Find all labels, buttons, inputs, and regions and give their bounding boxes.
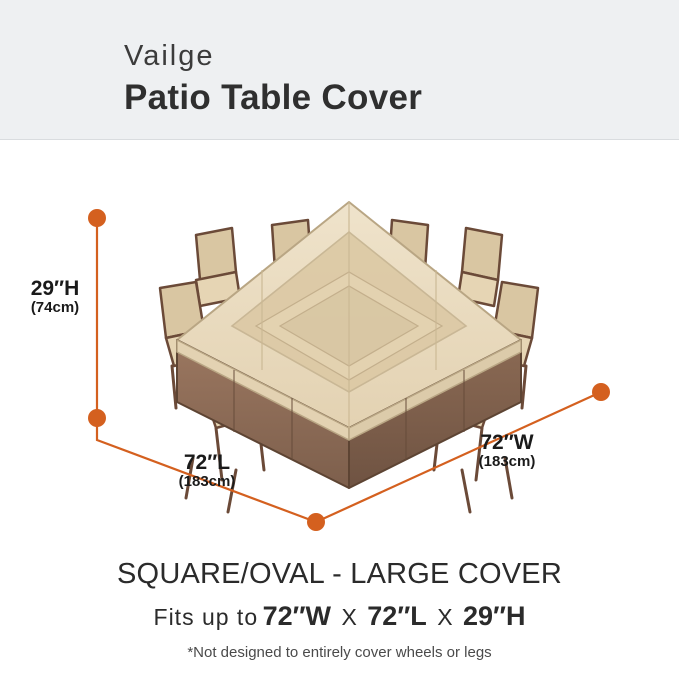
fits-up-to-row: Fits up to 72″W X 72″L X 29″H [0, 601, 679, 632]
fits-separator-1: X [335, 604, 362, 630]
dimension-height-label: 29″H (74cm) [18, 278, 92, 316]
marker-bottom-center [307, 513, 325, 531]
dimension-height-metric: (74cm) [18, 300, 92, 316]
fits-lead-label: Fits up to [154, 604, 259, 630]
dimension-height-value: 29″H [18, 278, 92, 300]
dimension-length-value: 72″L [152, 452, 262, 474]
fits-width-value: 72″W [263, 601, 331, 631]
dimension-length-metric: (183cm) [152, 474, 262, 490]
dimension-width-label: 72″W (183cm) [452, 432, 562, 470]
brand-name: Vailge [124, 40, 214, 73]
fits-separator-2: X [431, 604, 458, 630]
product-illustration [0, 140, 679, 550]
dimension-width-metric: (183cm) [452, 454, 562, 470]
fits-height-value: 29″H [463, 601, 525, 631]
dimension-length-label: 72″L (183cm) [152, 452, 262, 490]
marker-top-left [88, 209, 106, 227]
page-title: Patio Table Cover [124, 78, 422, 118]
product-infographic: Vailge Patio Table Cover [0, 0, 679, 674]
cover-type-label: SQUARE/OVAL - LARGE COVER [0, 558, 679, 591]
footer-specs: SQUARE/OVAL - LARGE COVER Fits up to 72″… [0, 548, 679, 661]
dimension-width-value: 72″W [452, 432, 562, 454]
marker-right [592, 383, 610, 401]
header-banner: Vailge Patio Table Cover [0, 0, 679, 140]
fits-length-value: 72″L [367, 601, 426, 631]
disclaimer-text: *Not designed to entirely cover wheels o… [0, 644, 679, 661]
marker-bottom-left [88, 409, 106, 427]
